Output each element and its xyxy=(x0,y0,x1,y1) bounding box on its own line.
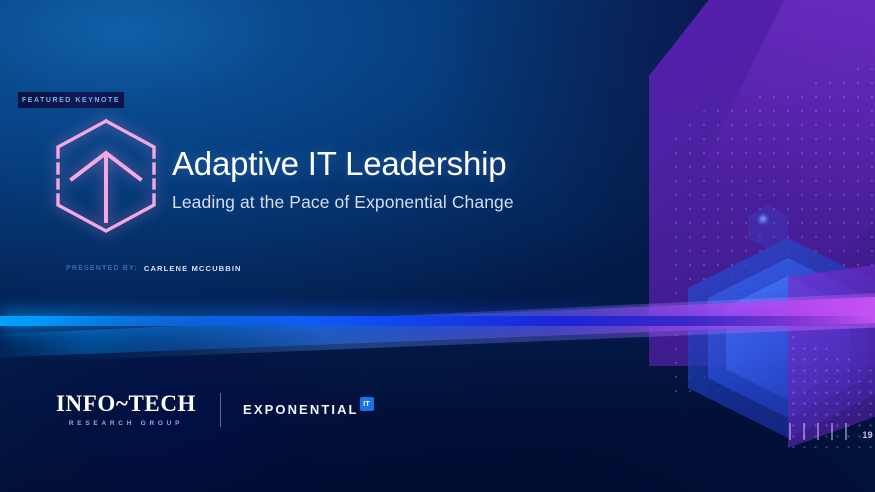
info-tech-logo: INFO~TECH RESEARCH GROUP xyxy=(56,392,196,427)
page-number: 19 xyxy=(862,430,873,440)
presented-by-label: PRESENTED BY: xyxy=(66,265,138,272)
tick-mark xyxy=(831,423,833,440)
slide-subtitle: Leading at the Pace of Exponential Chang… xyxy=(172,192,772,213)
page-tick-marks xyxy=(789,423,847,440)
tick-mark xyxy=(817,423,819,440)
exponential-wordmark: EXPONENTIAL xyxy=(243,402,359,417)
tick-mark xyxy=(845,423,847,440)
info-tech-wordmark: INFO~TECH xyxy=(56,392,196,415)
featured-keynote-badge: FEATURED KEYNOTE xyxy=(18,92,124,108)
badge-label: FEATURED KEYNOTE xyxy=(22,97,120,104)
it-badge-icon: IT xyxy=(360,397,374,411)
decorative-glow-dot xyxy=(757,213,769,225)
info-tech-tagline: RESEARCH GROUP xyxy=(69,420,183,427)
tick-mark xyxy=(789,423,791,440)
presenter-line: PRESENTED BY: CARLENE MCCUBBIN xyxy=(66,264,242,273)
presenter-name: CARLENE MCCUBBIN xyxy=(144,264,242,273)
tick-mark xyxy=(803,423,805,440)
exponential-it-logo: EXPONENTIAL IT xyxy=(243,402,374,417)
slide-title: Adaptive IT Leadership xyxy=(172,146,772,182)
hexagon-arrow-logo-icon xyxy=(50,117,162,235)
title-block: Adaptive IT Leadership Leading at the Pa… xyxy=(172,146,772,213)
decorative-hexagon-stack xyxy=(688,238,875,448)
footer-logos: INFO~TECH RESEARCH GROUP EXPONENTIAL IT xyxy=(56,392,374,427)
presentation-slide: FEATURED KEYNOTE Adaptive IT Leadership … xyxy=(0,0,875,492)
logo-divider xyxy=(220,393,221,427)
